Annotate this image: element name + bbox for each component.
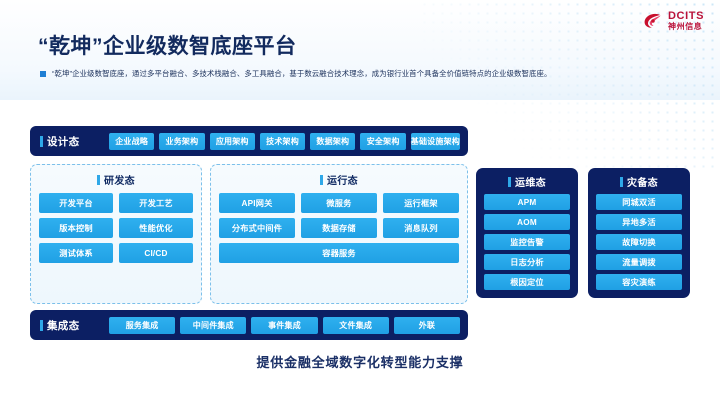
chip-run-1-2[interactable]: 消息队列 <box>383 218 459 238</box>
dr-layer-title: 灾备态 <box>596 174 682 189</box>
chip-run-2-0[interactable]: 容器服务 <box>219 243 459 263</box>
ops-layer-title: 运维态 <box>484 174 570 189</box>
logo-text: DCITS 神州信息 <box>668 11 704 31</box>
chip-design-4[interactable]: 数据架构 <box>310 133 355 150</box>
square-bullet-icon <box>40 71 46 77</box>
chip-dr-2[interactable]: 故障切换 <box>596 234 682 250</box>
chip-run-1-1[interactable]: 数据存储 <box>301 218 377 238</box>
run-layer-title: 运行态 <box>219 172 459 187</box>
integration-layer-label: 集成态 <box>40 318 102 333</box>
chip-dev-1-0[interactable]: 版本控制 <box>39 218 113 238</box>
chip-ops-0[interactable]: APM <box>484 194 570 210</box>
dr-layer-panel: 灾备态 同城双活 异地多活 故障切换 流量调拨 容灾演练 <box>588 168 690 298</box>
accent-bar-icon <box>620 177 623 187</box>
design-layer-label: 设计态 <box>40 134 102 149</box>
chip-run-0-1[interactable]: 微服务 <box>301 193 377 213</box>
ops-layer-title-text: 运维态 <box>515 174 546 189</box>
chip-integration-3[interactable]: 文件集成 <box>323 317 389 334</box>
logo-name-cn: 神州信息 <box>668 23 704 31</box>
chip-integration-0[interactable]: 服务集成 <box>109 317 175 334</box>
dr-layer-title-text: 灾备态 <box>627 174 658 189</box>
page-header: “乾坤”企业级数智底座平台 “乾坤”企业级数智底座，通过多平台融合、多技术栈融合… <box>0 0 720 96</box>
dev-layer-box: 研发态 开发平台 开发工艺 版本控制 性能优化 测试体系 CI/CD <box>30 164 202 304</box>
dev-row-1: 版本控制 性能优化 <box>39 218 193 238</box>
chip-ops-2[interactable]: 监控告警 <box>484 234 570 250</box>
chip-run-0-0[interactable]: API网关 <box>219 193 295 213</box>
chip-dev-1-1[interactable]: 性能优化 <box>119 218 193 238</box>
platform-architecture-diagram: 设计态 企业战略 业务架构 应用架构 技术架构 数据架构 安全架构 基础设施架构… <box>30 126 690 340</box>
dev-layer-title: 研发态 <box>39 172 193 187</box>
run-layer-box: 运行态 API网关 微服务 运行框架 分布式中间件 数据存储 消息队列 容器服务 <box>210 164 468 304</box>
page-title: “乾坤”企业级数智底座平台 <box>38 30 297 60</box>
subtitle-text: “乾坤”企业级数智底座，通过多平台融合、多技术栈融合、多工具融合，基于数云融合技… <box>52 68 552 79</box>
middle-layers: 研发态 开发平台 开发工艺 版本控制 性能优化 测试体系 CI/CD <box>30 164 468 304</box>
chip-run-0-2[interactable]: 运行框架 <box>383 193 459 213</box>
chip-dev-0-1[interactable]: 开发工艺 <box>119 193 193 213</box>
run-row-2: 容器服务 <box>219 243 459 263</box>
run-row-1: 分布式中间件 数据存储 消息队列 <box>219 218 459 238</box>
chip-run-1-0[interactable]: 分布式中间件 <box>219 218 295 238</box>
chip-integration-2[interactable]: 事件集成 <box>251 317 317 334</box>
run-layer-grid: API网关 微服务 运行框架 分布式中间件 数据存储 消息队列 容器服务 <box>219 193 459 295</box>
chip-design-5[interactable]: 安全架构 <box>360 133 405 150</box>
ops-layer-grid: APM AOM 监控告警 日志分析 根因定位 <box>484 194 570 290</box>
ops-layer-panel: 运维态 APM AOM 监控告警 日志分析 根因定位 <box>476 168 578 298</box>
logo-name-en: DCITS <box>668 11 704 22</box>
chip-dev-0-0[interactable]: 开发平台 <box>39 193 113 213</box>
design-layer-row: 设计态 企业战略 业务架构 应用架构 技术架构 数据架构 安全架构 基础设施架构 <box>30 126 468 156</box>
accent-bar-icon <box>40 136 43 147</box>
dev-layer-grid: 开发平台 开发工艺 版本控制 性能优化 测试体系 CI/CD <box>39 193 193 295</box>
chip-design-6[interactable]: 基础设施架构 <box>411 133 460 150</box>
chip-design-0[interactable]: 企业战略 <box>109 133 154 150</box>
footer-title: 提供金融全域数字化转型能力支撑 <box>0 352 720 371</box>
design-layer-chips: 企业战略 业务架构 应用架构 技术架构 数据架构 安全架构 基础设施架构 <box>109 133 460 150</box>
chip-dev-2-1[interactable]: CI/CD <box>119 243 193 263</box>
brand-logo: DCITS 神州信息 <box>642 10 704 32</box>
diagram-right-column: 运维态 APM AOM 监控告警 日志分析 根因定位 灾备态 同城双活 异地多活… <box>476 168 690 298</box>
chip-design-1[interactable]: 业务架构 <box>159 133 204 150</box>
integration-layer-row: 集成态 服务集成 中间件集成 事件集成 文件集成 外联 <box>30 310 468 340</box>
subtitle-row: “乾坤”企业级数智底座，通过多平台融合、多技术栈融合、多工具融合，基于数云融合技… <box>40 68 680 79</box>
run-layer-title-text: 运行态 <box>327 172 358 187</box>
chip-integration-4[interactable]: 外联 <box>394 317 460 334</box>
chip-dr-1[interactable]: 异地多活 <box>596 214 682 230</box>
integration-layer-chips: 服务集成 中间件集成 事件集成 文件集成 外联 <box>109 317 460 334</box>
chip-ops-1[interactable]: AOM <box>484 214 570 230</box>
dev-row-2: 测试体系 CI/CD <box>39 243 193 263</box>
dev-row-0: 开发平台 开发工艺 <box>39 193 193 213</box>
chip-dr-4[interactable]: 容灾演练 <box>596 274 682 290</box>
diagram-left-column: 设计态 企业战略 业务架构 应用架构 技术架构 数据架构 安全架构 基础设施架构… <box>30 126 468 340</box>
accent-bar-icon <box>320 175 323 185</box>
chip-ops-3[interactable]: 日志分析 <box>484 254 570 270</box>
dr-layer-grid: 同城双活 异地多活 故障切换 流量调拨 容灾演练 <box>596 194 682 290</box>
accent-bar-icon <box>40 320 43 331</box>
chip-dr-3[interactable]: 流量调拨 <box>596 254 682 270</box>
dev-layer-title-text: 研发态 <box>104 172 135 187</box>
chip-dev-2-0[interactable]: 测试体系 <box>39 243 113 263</box>
accent-bar-icon <box>97 175 100 185</box>
chip-ops-4[interactable]: 根因定位 <box>484 274 570 290</box>
run-row-0: API网关 微服务 运行框架 <box>219 193 459 213</box>
chip-integration-1[interactable]: 中间件集成 <box>180 317 246 334</box>
chip-dr-0[interactable]: 同城双活 <box>596 194 682 210</box>
chip-design-3[interactable]: 技术架构 <box>260 133 305 150</box>
accent-bar-icon <box>508 177 511 187</box>
integration-layer-label-text: 集成态 <box>47 318 79 333</box>
chip-design-2[interactable]: 应用架构 <box>210 133 255 150</box>
design-layer-label-text: 设计态 <box>47 134 79 149</box>
dcits-swoosh-icon <box>642 10 664 32</box>
